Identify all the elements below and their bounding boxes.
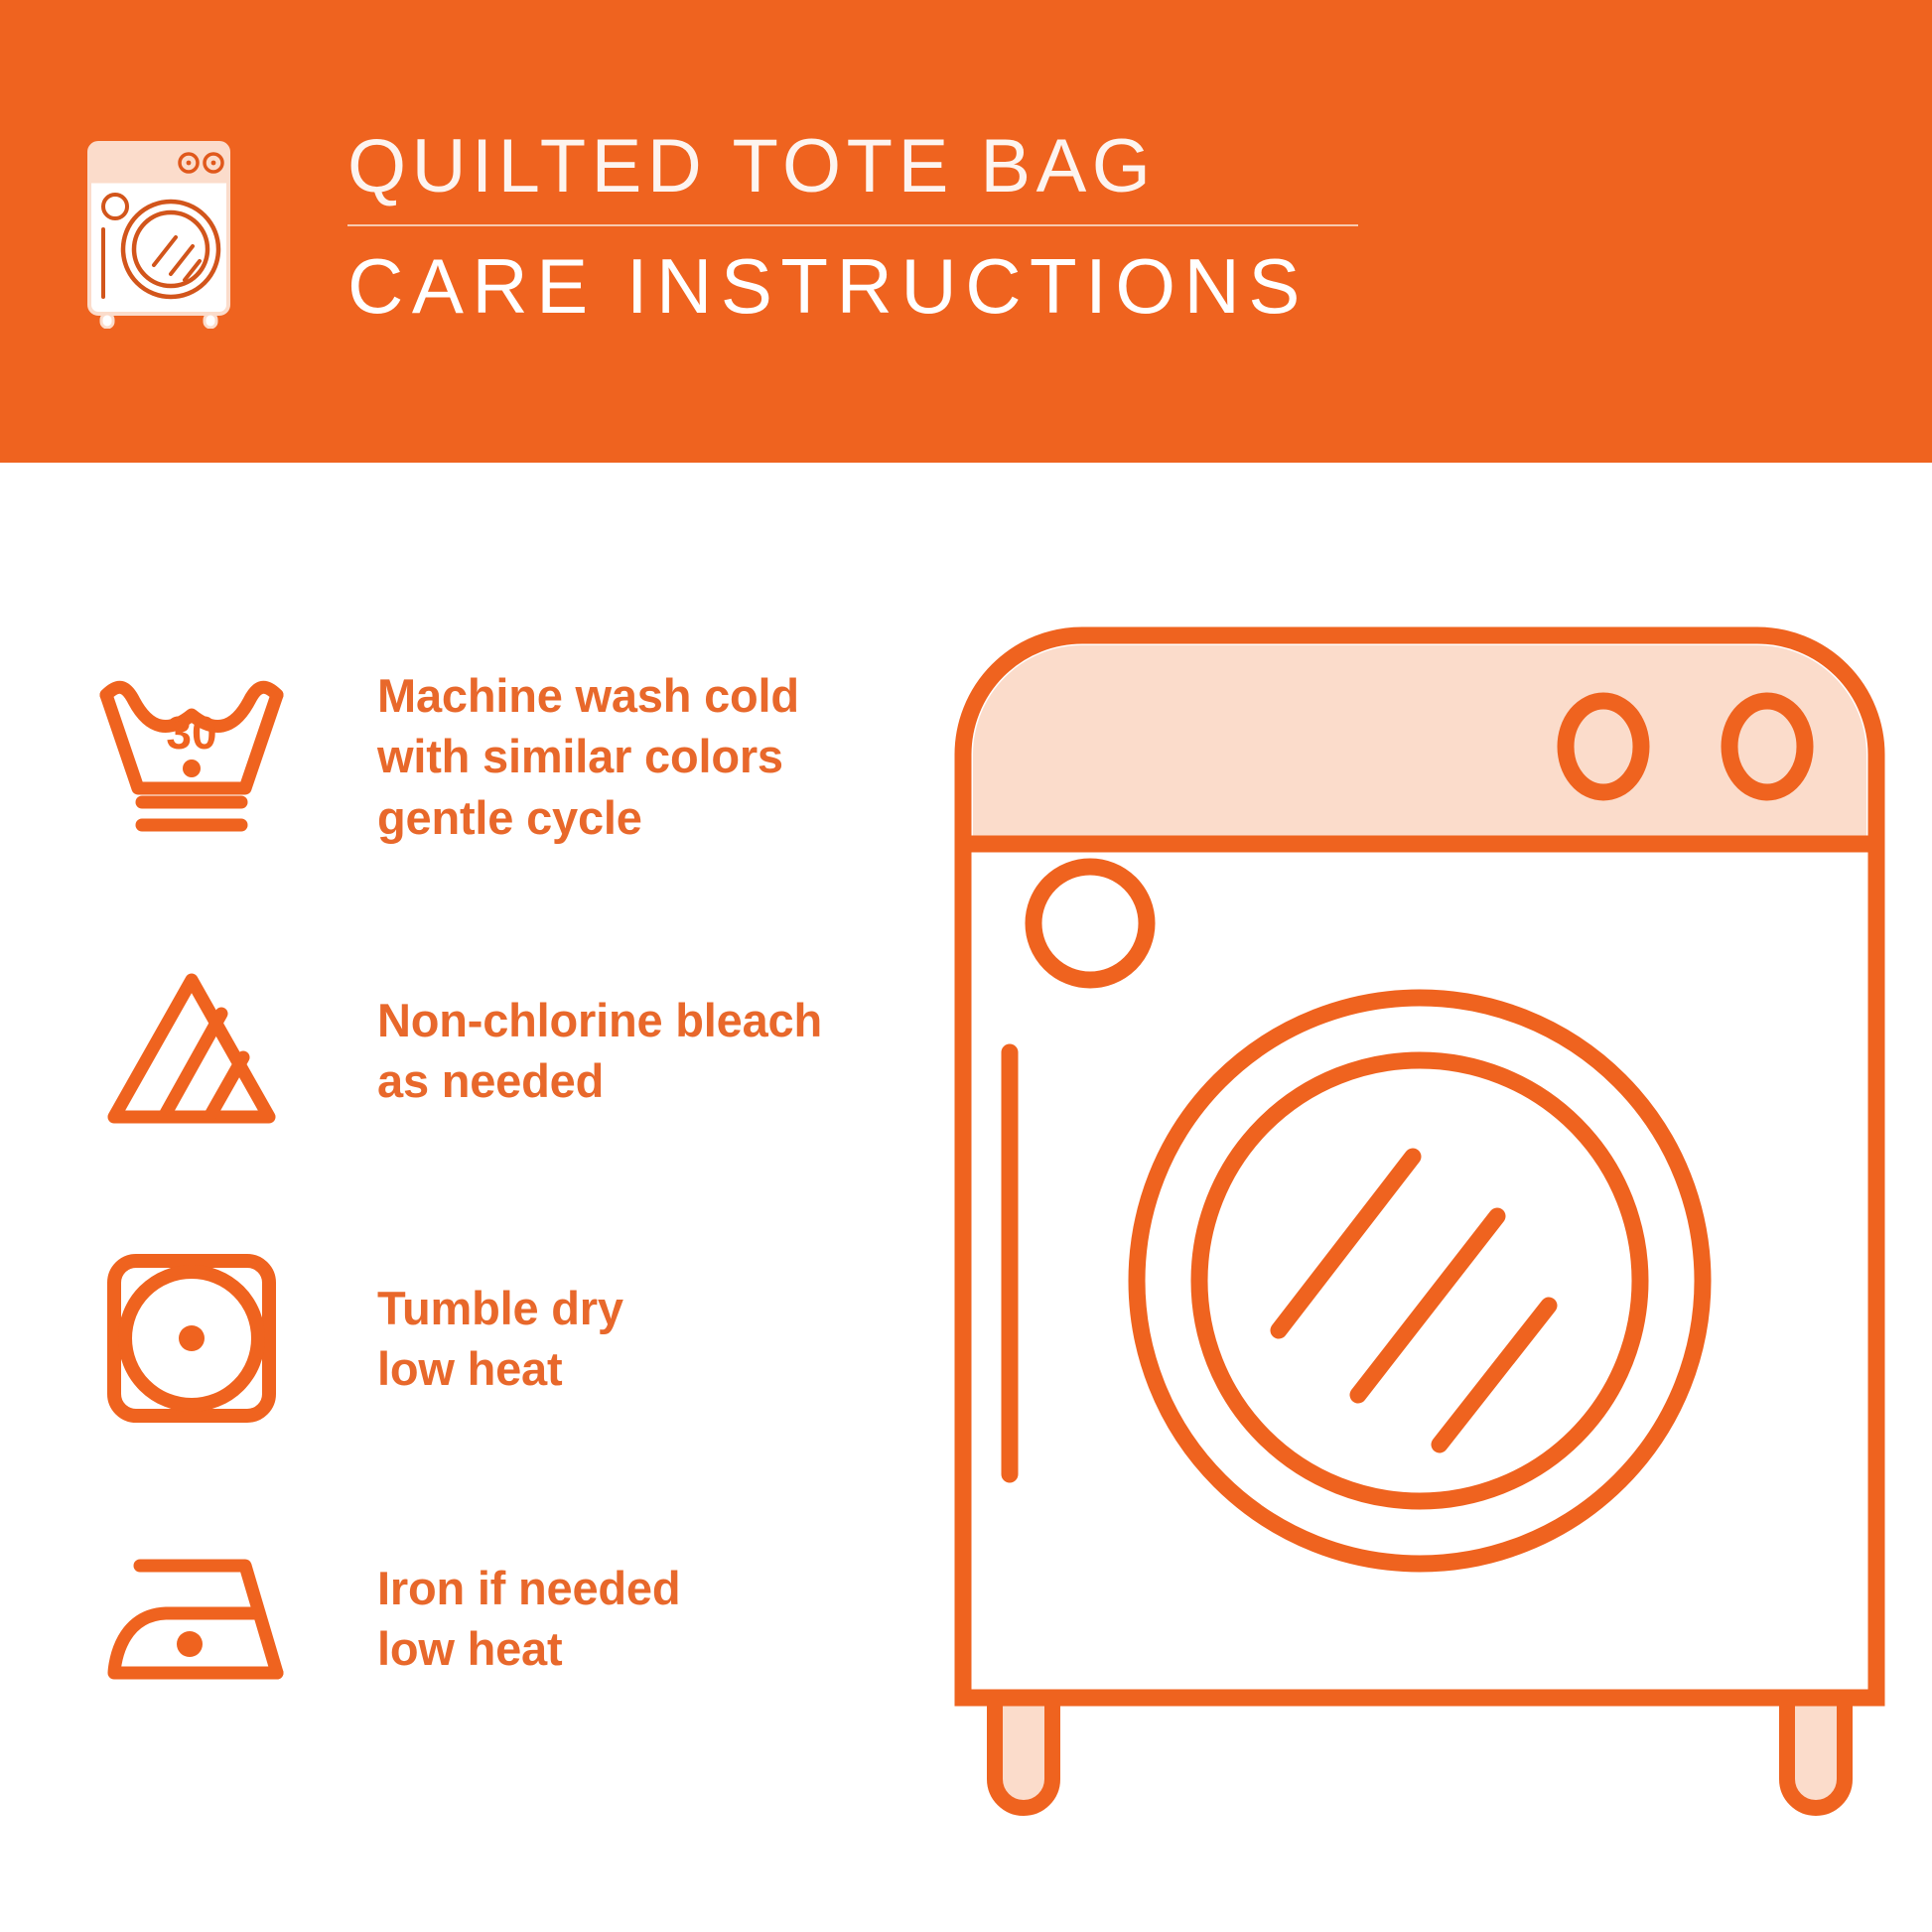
iron-low-heat-icon	[87, 1519, 296, 1718]
washing-machine-icon	[81, 135, 258, 329]
instruction-row-dry: Tumble dry low heat	[87, 1239, 931, 1438]
instruction-text-wash: Machine wash cold with similar colors ge…	[377, 665, 799, 847]
machine-wash-30-basin-icon: 30	[87, 657, 296, 856]
header-titles: QUILTED TOTE BAG CARE INSTRUCTIONS	[347, 127, 1358, 328]
instruction-row-iron: Iron if needed low heat	[87, 1519, 931, 1718]
header-banner: QUILTED TOTE BAG CARE INSTRUCTIONS	[0, 0, 1932, 463]
instruction-text-dry: Tumble dry low heat	[377, 1278, 623, 1399]
care-instructions-poster: QUILTED TOTE BAG CARE INSTRUCTIONS 30	[0, 0, 1932, 1932]
tumble-dry-low-heat-icon	[87, 1239, 296, 1438]
header-content: QUILTED TOTE BAG CARE INSTRUCTIONS	[81, 127, 1358, 329]
instruction-text-iron: Iron if needed low heat	[377, 1558, 680, 1679]
header-divider	[347, 224, 1358, 226]
page-subtitle: CARE INSTRUCTIONS	[347, 246, 1358, 328]
instruction-row-bleach: Non-chlorine bleach as needed	[87, 951, 931, 1150]
instruction-text-bleach: Non-chlorine bleach as needed	[377, 990, 822, 1111]
instruction-row-wash: 30 Machine wash cold with similar colors…	[87, 657, 931, 856]
page-title: QUILTED TOTE BAG	[347, 127, 1358, 207]
non-chlorine-bleach-triangle-icon	[87, 951, 296, 1150]
wash-temp-label: 30	[166, 707, 216, 759]
front-load-washing-machine-illustration	[953, 625, 1886, 1906]
